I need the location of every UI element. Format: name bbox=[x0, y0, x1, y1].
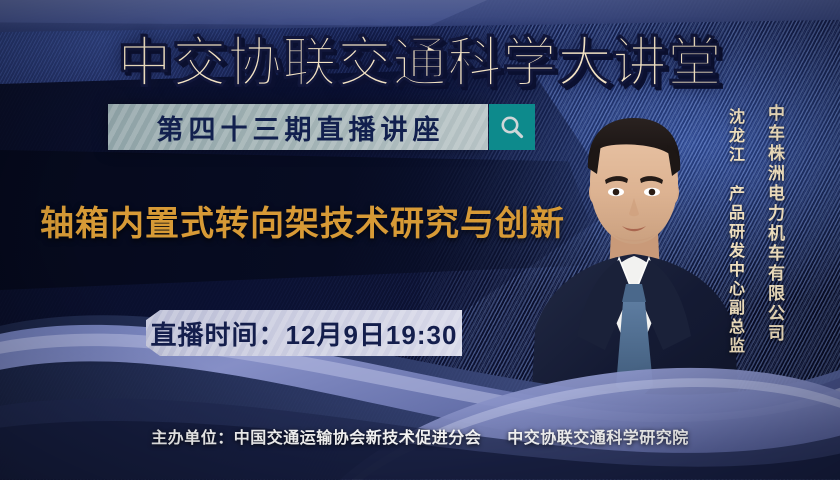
footer-organizers: 主办单位：中国交通运输协会新技术促进分会中交协联交通科学研究院 bbox=[0, 424, 840, 448]
footer-organizer-secondary: 中交协联交通科学研究院 bbox=[507, 430, 689, 447]
live-time-banner: 直播时间：12月9日19:30 bbox=[146, 310, 462, 356]
live-lecture-poster: 中交协联交通科学大讲堂 第四十三期直播讲座 轴箱内置式转向架技术研究与创新 直播… bbox=[0, 0, 840, 480]
episode-banner: 第四十三期直播讲座 bbox=[108, 104, 488, 150]
live-time-label: 直播时间：12月9日19:30 bbox=[151, 315, 458, 352]
search-icon-box bbox=[489, 104, 535, 150]
speaker-company: 中车株洲电力机车有限公司 bbox=[762, 104, 787, 344]
episode-banner-label: 第四十三期直播讲座 bbox=[152, 108, 445, 147]
page-title: 中交协联交通科学大讲堂 bbox=[0, 18, 840, 97]
search-icon bbox=[499, 114, 525, 140]
speaker-name-and-role: 沈龙江 产品研发中心副总监 bbox=[722, 108, 746, 356]
footer-organizer-primary: 主办单位：中国交通运输协会新技术促进分会 bbox=[151, 430, 481, 447]
lecture-topic-title: 轴箱内置式转向架技术研究与创新 bbox=[40, 196, 565, 245]
